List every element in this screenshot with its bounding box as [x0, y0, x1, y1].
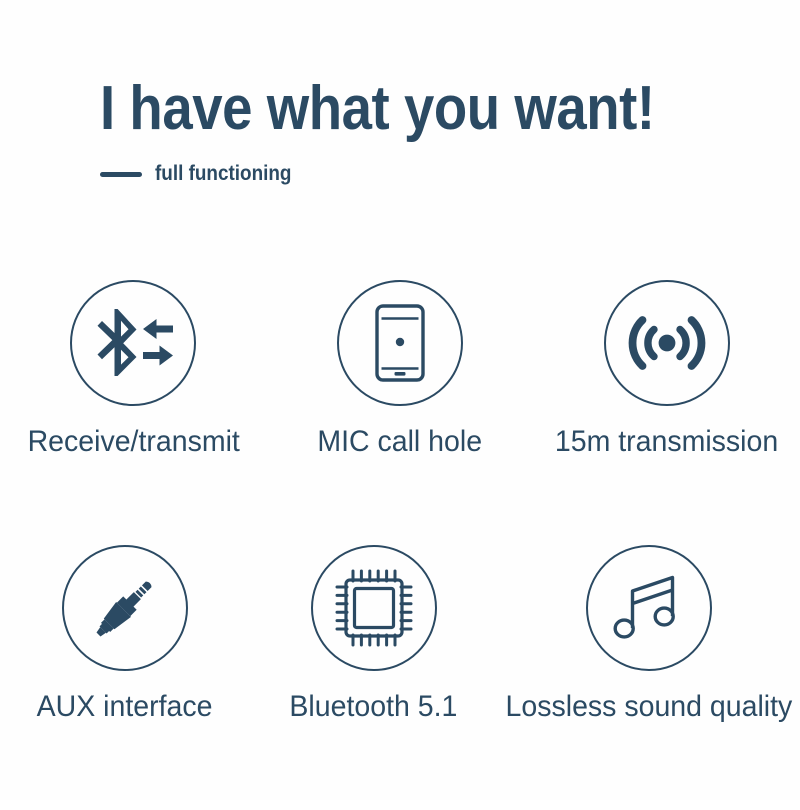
audio-jack-icon [85, 568, 165, 648]
feature-row: AUX interface [0, 545, 800, 810]
feature-label: Receive/transmit [27, 425, 239, 459]
feature-label: AUX interface [37, 690, 213, 724]
wireless-signal-icon [624, 306, 710, 380]
header: I have what you want! full functioning [100, 72, 760, 186]
smartphone-mic-icon [373, 303, 427, 383]
feature-label: MIC call hole [318, 425, 483, 459]
feature-grid: Receive/transmit MIC call hole [0, 280, 800, 810]
feature-item-sound-quality: Lossless sound quality [498, 545, 800, 810]
feature-row: Receive/transmit MIC call hole [0, 280, 800, 545]
feature-item-receive-transmit: Receive/transmit [0, 280, 267, 545]
feature-label: Bluetooth 5.1 [290, 690, 458, 724]
page-title: I have what you want! [100, 72, 681, 146]
chip-icon [332, 566, 416, 650]
icon-circle [70, 280, 196, 406]
feature-label: Lossless sound quality [506, 690, 793, 724]
icon-circle [311, 545, 437, 671]
feature-item-transmission-range: 15m transmission [533, 280, 800, 545]
music-note-icon [610, 568, 688, 648]
subtitle-text: full functioning [155, 162, 291, 186]
icon-circle [604, 280, 730, 406]
icon-circle [586, 545, 712, 671]
feature-item-mic-call-hole: MIC call hole [267, 280, 534, 545]
icon-circle [62, 545, 188, 671]
subtitle-row: full functioning [100, 162, 760, 186]
dash-rule-icon [100, 172, 142, 177]
feature-label: 15m transmission [555, 425, 778, 459]
bluetooth-transceive-icon [90, 307, 176, 379]
icon-circle [337, 280, 463, 406]
feature-item-aux-interface: AUX interface [0, 545, 249, 810]
feature-item-bluetooth-version: Bluetooth 5.1 [249, 545, 498, 810]
promo-feature-panel: I have what you want! full functioning [0, 0, 800, 800]
